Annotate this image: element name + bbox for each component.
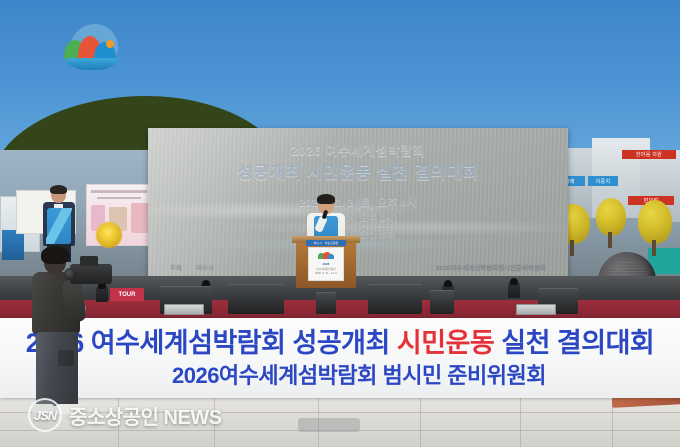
pavement-line-v4 [420,398,421,447]
cameraman-hair [41,246,69,264]
gold-floral-decoration-left [96,222,122,248]
jsn-logo-icon: JSN [28,398,62,432]
emblem-sun-icon [106,40,114,48]
screen-host-group: 주최 여수시 [170,262,214,272]
speaker-hair [317,194,335,204]
podium-band: 여수시 · 이순신광장 [306,240,346,246]
pavement-stain [298,418,360,432]
screen-title-line1: 2026 여수세계섬박람회 [148,140,568,159]
screen-host-name: 여수시 [196,262,214,272]
screen-title-line2: 성공개최 시민운동 실천 결의대회 [148,158,568,183]
camera-viewfinder [80,256,98,266]
banner-headline-highlight: 시민운동 [397,328,494,358]
banner-subline: 2026여수세계섬박람회 범시민 준비위원회 [0,358,680,390]
tree-trunk-2 [608,232,612,248]
screen-organizer: 2026여수세계섬박람회범시민준비위원회 [436,262,546,272]
ginkgo-tree-3 [638,200,672,244]
shop-sign-b: 이중치 [588,176,618,186]
tree-trunk-3 [652,240,656,256]
moving-head-light-2 [96,286,108,302]
banner-headline: 2026 여수세계섬박람회 성공개최 시민운동 실천 결의대회 [0,321,680,360]
press-photo: 힐링카페 이중치 한마음 의원 편의점 2026 여 [0,0,680,447]
podium-plate-title: 2026 [323,262,330,266]
camera-lens-icon [64,268,76,280]
blue-standing-sign [2,230,24,260]
stage-monitor-4 [430,290,454,314]
main-rally-banner: 2026 여수세계섬박람회 성공개최 시민운동 실천 결의대회 2026여수세계… [0,318,680,398]
pink-banner-subline [97,197,141,199]
screen-pre-event-line: (식전행사 오후 2시) [148,210,568,224]
video-camera [70,256,116,286]
screen-date-line: 2025. 11. 2 (토) 오후 4시 [148,194,568,210]
stage-monitor-5 [316,292,336,314]
podium-plate-sub: 여수세계섬박람회 [316,267,335,271]
tour-banner-sign: TOUR [110,288,144,301]
camera-body [70,264,112,284]
press-watermark: JSN 중소상공인 NEWS [28,398,222,432]
banner-headline-part2: 실천 결의대회 [494,328,654,358]
moving-head-light-5 [508,282,520,298]
stage-backdrop-screen: 2026 여수세계섬박람회 성공개최 시민운동 실천 결의대회 2025. 11… [148,128,568,276]
cameraman-cargo-pocket [58,350,74,366]
expo-emblem-logo [62,36,122,70]
screen-footer: 주최 여수시 2026여수세계섬박람회범시민준비위원회 [148,262,568,272]
stage-monitor-2 [228,284,284,314]
podium-expo-emblem-icon [317,253,335,261]
shop-sign-c: 한마음 의원 [622,150,676,159]
podium-plate-date: 2026. 8. 27 ~ 11. 6 [315,272,337,275]
official-sash [46,208,72,244]
watermark-text: 중소상공인 NEWS [69,401,222,430]
stage-monitor-3 [368,284,422,314]
podium-emblem-plate: 2026 여수세계섬박람회 2026. 8. 27 ~ 11. 6 [308,247,344,281]
pavement-line-v5 [520,398,521,447]
official-hair [50,185,67,194]
screen-host-label: 주최 [170,262,182,272]
ginkgo-tree-2 [596,198,626,236]
pink-banner-headline [91,190,147,193]
equipment-case-1 [164,304,204,315]
pink-banner-photo-3 [131,203,149,233]
emblem-water [66,58,118,70]
equipment-case-2 [516,304,556,315]
cameraman-pants [36,332,78,406]
cameraman [28,246,90,414]
tree-trunk-1 [570,240,574,256]
